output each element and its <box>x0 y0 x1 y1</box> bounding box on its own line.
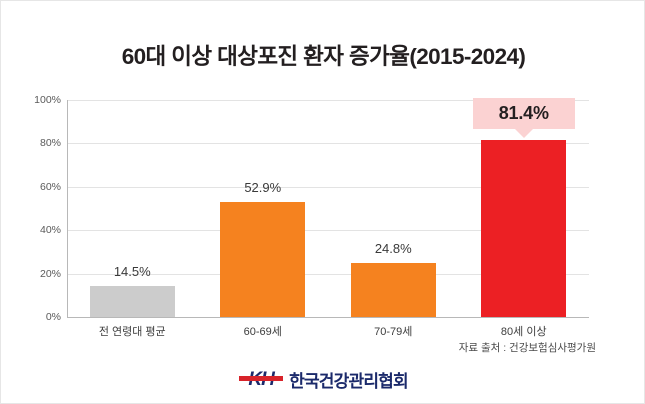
footer-logo: KH 한국건강관리협회 <box>1 367 645 392</box>
y-axis-tick-labels: 0%20%40%60%80%100% <box>17 100 61 317</box>
bar-value-label: 24.8% <box>375 241 412 256</box>
y-axis-tick: 60% <box>21 181 61 193</box>
x-axis-tick: 60-69세 <box>244 323 282 339</box>
bar-value-label: 14.5% <box>114 264 151 279</box>
y-axis-tick: 20% <box>21 268 61 280</box>
x-axis-tick-labels: 전 연령대 평균60-69세70-79세80세 이상 <box>67 323 589 341</box>
y-axis-tick: 40% <box>21 224 61 236</box>
bar[interactable] <box>351 263 436 317</box>
x-axis-baseline <box>67 317 589 318</box>
kh-logo-wordmark: 한국건강관리협회 <box>289 367 408 392</box>
x-axis-tick: 전 연령대 평균 <box>99 323 166 339</box>
bar[interactable] <box>90 286 175 317</box>
chart-screenshot: 60대 이상 대상포진 환자 증가율(2015-2024) 0%20%40%60… <box>0 0 645 404</box>
kh-logo-red-bar <box>239 376 283 381</box>
bar[interactable] <box>481 140 566 317</box>
y-axis-tick: 80% <box>21 137 61 149</box>
y-axis-tick: 100% <box>21 94 61 106</box>
x-axis-tick: 70-79세 <box>374 323 412 339</box>
bars-layer: 14.5%52.9%24.8%81.4% <box>67 100 589 317</box>
page-title: 60대 이상 대상포진 환자 증가율(2015-2024) <box>1 39 645 71</box>
highlight-value-callout: 81.4% <box>473 98 575 129</box>
bar[interactable] <box>220 202 305 317</box>
kh-logo-icon: KH <box>239 369 283 390</box>
bar-value-label: 52.9% <box>244 180 281 195</box>
x-axis-tick: 80세 이상 <box>501 323 547 339</box>
source-note: 자료 출처 : 건강보험심사평가원 <box>459 340 596 355</box>
y-axis-tick: 0% <box>21 311 61 323</box>
callout-pointer-icon <box>515 129 533 138</box>
